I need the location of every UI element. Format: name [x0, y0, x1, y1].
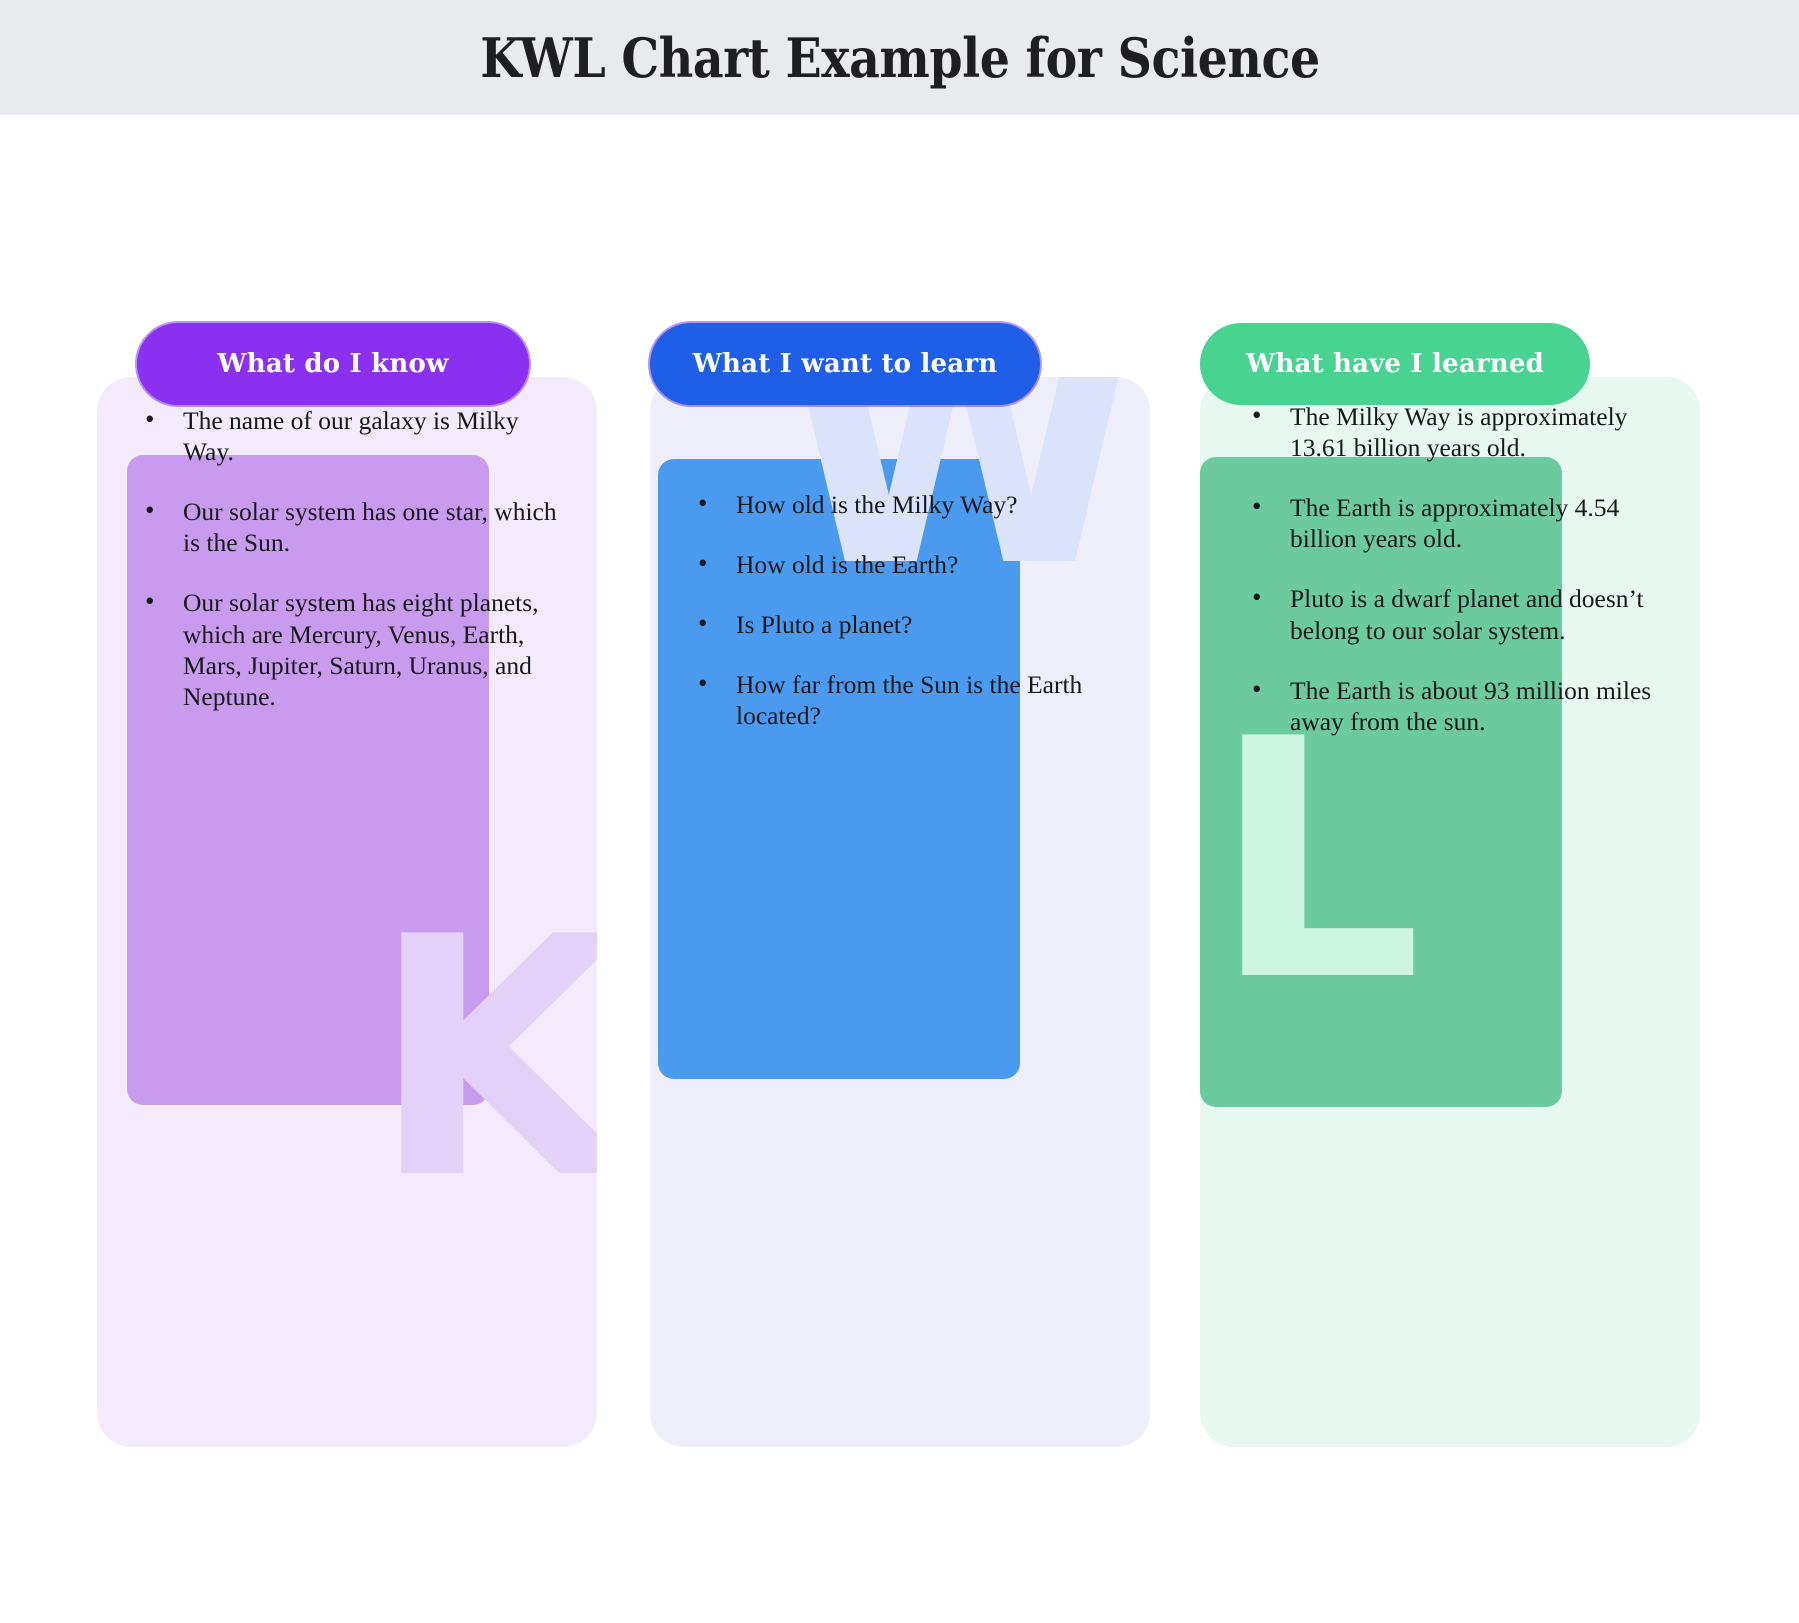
kwl-column-learned: What have I learned L The Milky Way is a…: [1200, 323, 1700, 1447]
list-item: How far from the Sun is the Earth locate…: [698, 669, 1120, 731]
list-item: The Earth is approximately 4.54 billion …: [1252, 492, 1670, 554]
list-item: The Earth is about 93 million miles away…: [1252, 675, 1670, 737]
kwl-column-know: What do I know K The name of our galaxy …: [97, 323, 597, 1447]
list-item: The name of our galaxy is Milky Way.: [145, 405, 563, 467]
column-panel-want-to-learn: W W How old is the Milky Way? How old is…: [650, 377, 1150, 1447]
column-header-pill-learned[interactable]: What have I learned: [1200, 323, 1590, 405]
column-panel-learned: L The Milky Way is approximately 13.61 b…: [1200, 377, 1700, 1447]
bullet-list-want-to-learn: How old is the Milky Way? How old is the…: [698, 489, 1120, 732]
list-item: How old is the Milky Way?: [698, 489, 1120, 520]
page-title: KWL Chart Example for Science: [480, 26, 1320, 90]
bullet-list-learned: The Milky Way is approximately 13.61 bil…: [1252, 401, 1670, 737]
list-item: How old is the Earth?: [698, 549, 1120, 580]
column-header-label: What have I learned: [1246, 349, 1544, 379]
column-panel-know: K The name of our galaxy is Milky Way. O…: [97, 377, 597, 1447]
bullet-list-know: The name of our galaxy is Milky Way. Our…: [145, 405, 563, 712]
list-item: Our solar system has one star, which is …: [145, 496, 563, 558]
list-item: Is Pluto a planet?: [698, 609, 1120, 640]
list-item: Pluto is a dwarf planet and doesn’t belo…: [1252, 583, 1670, 645]
list-item: The Milky Way is approximately 13.61 bil…: [1252, 401, 1670, 463]
kwl-board: What do I know K The name of our galaxy …: [0, 115, 1799, 1623]
column-header-pill-know[interactable]: What do I know: [137, 323, 529, 405]
column-header-label: What I want to learn: [693, 349, 998, 379]
kwl-column-want-to-learn: What I want to learn W W How old is the …: [650, 323, 1150, 1447]
column-header-pill-want-to-learn[interactable]: What I want to learn: [650, 323, 1040, 405]
list-item: Our solar system has eight planets, whic…: [145, 587, 563, 711]
column-header-label: What do I know: [217, 349, 448, 379]
title-bar: KWL Chart Example for Science: [0, 0, 1799, 115]
